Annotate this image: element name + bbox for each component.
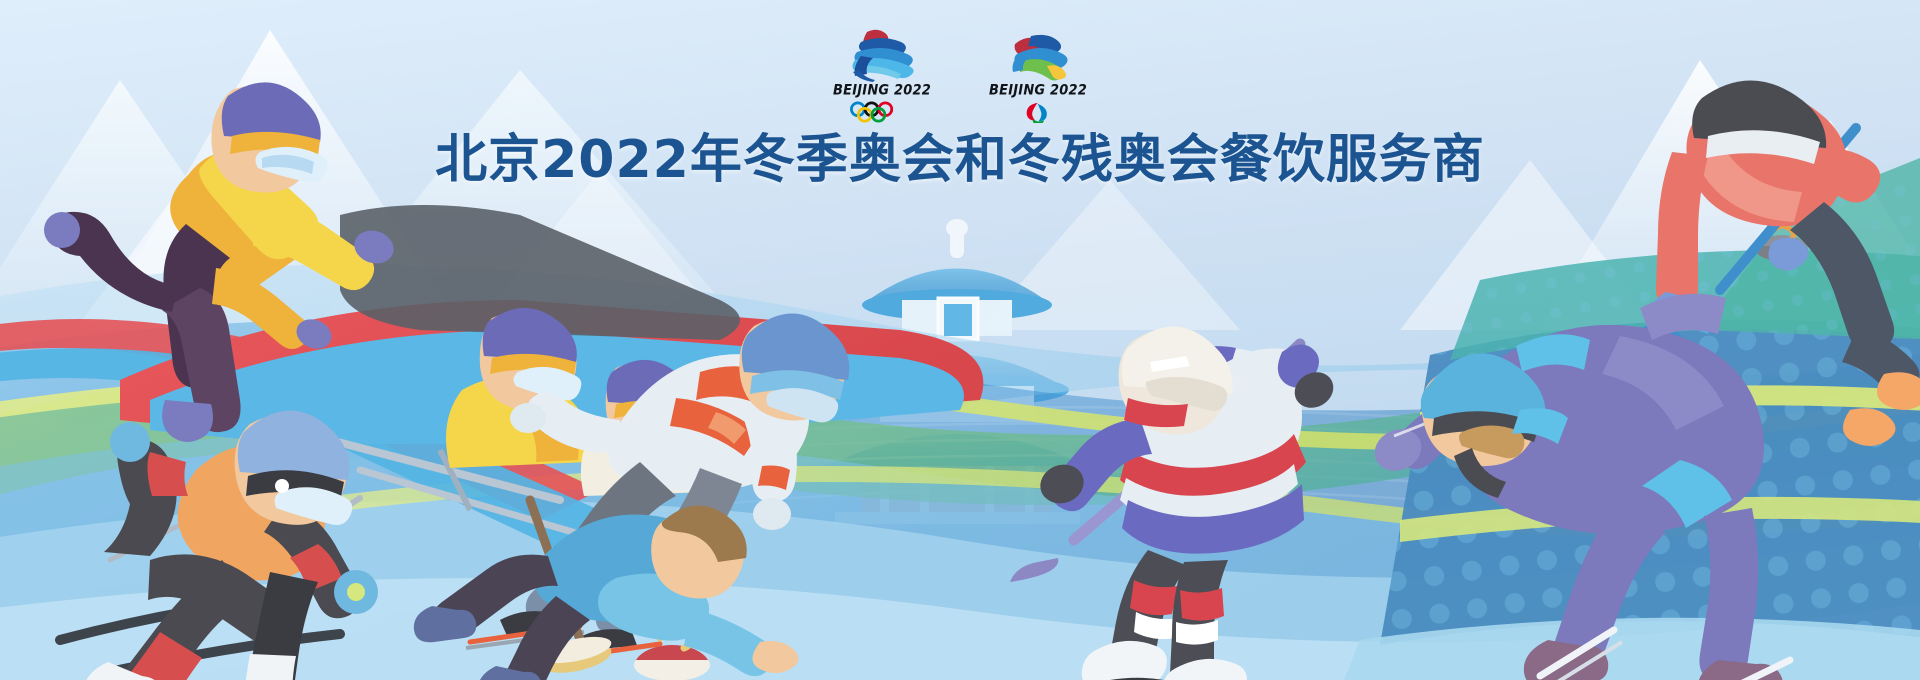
athlete-speed-skater [1368,294,1790,680]
olympic-emblem: BEIJING 2022 [830,26,934,123]
winter-dream-olympic-emblem [837,26,927,82]
paralympic-wordmark: BEIJING 2022 [989,83,1087,98]
athlete-cross-country-skier [60,410,378,680]
athlete-curler-delivery [414,500,799,680]
leap-paralympic-emblem [993,26,1083,82]
olympic-wordmark: BEIJING 2022 [833,83,931,98]
paralympic-emblem: BEIJING 2022 [986,26,1090,123]
page-title: 北京2022年冬季奥会和冬残奥会餐饮服务商 [0,117,1920,192]
athlete-ice-hockey-player [1010,326,1340,680]
beijing-2022-catering-supplier-banner: BEIJING 2022 BEIJING 2022 [0,0,1920,680]
emblem-row: BEIJING 2022 BEIJING 2022 [0,26,1920,123]
